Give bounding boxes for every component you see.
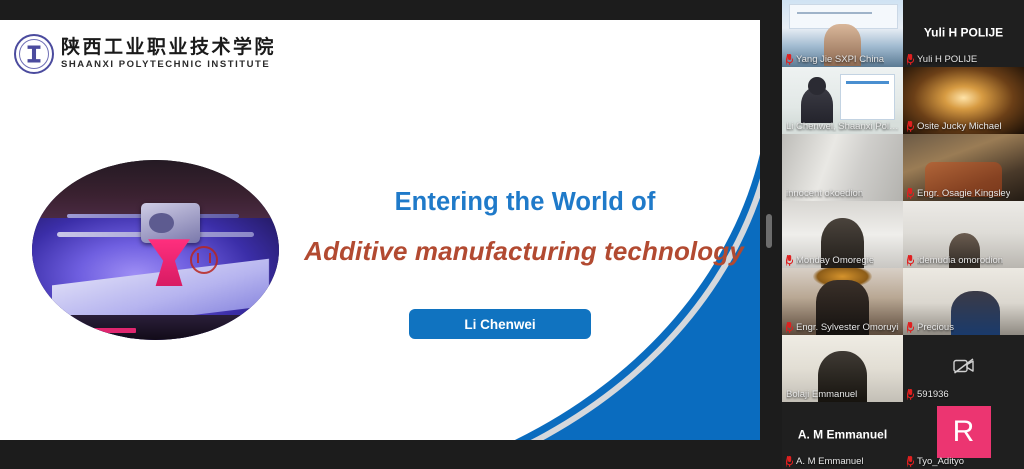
- participant-name: idemudia omorodion: [917, 255, 1003, 266]
- participant-tile[interactable]: innocent okoedion: [782, 134, 903, 201]
- participant-namebar: Precious: [903, 320, 958, 335]
- participant-tile[interactable]: Monday Omoregie: [782, 201, 903, 268]
- participant-tile[interactable]: Osite Jucky Michael: [903, 67, 1024, 134]
- participant-name: Bolaji Emmanuel: [786, 389, 857, 400]
- participant-name: Li Chenwei, Shaanxi Polyt...: [786, 121, 899, 132]
- participant-name: Engr. Sylvester Omoruyi: [796, 322, 898, 333]
- mic-muted-icon: [786, 54, 793, 65]
- participant-name: Osite Jucky Michael: [917, 121, 1001, 132]
- participant-tile[interactable]: Li Chenwei, Shaanxi Polyt...: [782, 67, 903, 134]
- participant-tile[interactable]: idemudia omorodion: [903, 201, 1024, 268]
- camera-off-icon: [953, 357, 975, 374]
- participant-tile[interactable]: 591936: [903, 335, 1024, 402]
- institute-name-cn: 陕西工业职业技术学院: [61, 38, 276, 57]
- participant-namebar: idemudia omorodion: [903, 253, 1007, 268]
- mic-muted-icon: [907, 389, 914, 400]
- participant-namebar: innocent okoedion: [782, 186, 867, 201]
- institute-name: 陕西工业职业技术学院 SHAANXI POLYTECHNIC INSTITUTE: [61, 38, 276, 70]
- printer-head-icon: [141, 203, 200, 243]
- mic-muted-icon: [907, 255, 914, 266]
- slide-title-line2: Additive manufacturing technology: [268, 236, 760, 267]
- mic-muted-icon: [786, 456, 793, 467]
- speaker-name-button[interactable]: Li Chenwei: [409, 309, 591, 339]
- participant-namebar: Li Chenwei, Shaanxi Polyt...: [782, 119, 903, 134]
- participant-display-name: A. M Emmanuel: [782, 427, 903, 441]
- participant-name: A. M Emmanuel: [796, 456, 864, 467]
- participant-name: Monday Omoregie: [796, 255, 874, 266]
- avatar: R: [937, 406, 991, 458]
- printer-photo: [32, 160, 279, 340]
- mic-muted-icon: [907, 188, 914, 199]
- participant-name: innocent okoedion: [786, 188, 863, 199]
- institute-logo: 陕西工业职业技术学院 SHAANXI POLYTECHNIC INSTITUTE: [14, 34, 276, 74]
- mic-muted-icon: [907, 456, 914, 467]
- mic-muted-icon: [786, 255, 793, 266]
- participant-tile[interactable]: Bolaji Emmanuel: [782, 335, 903, 402]
- seal-icon: [14, 34, 54, 74]
- participant-namebar: Engr. Sylvester Omoruyi: [782, 320, 902, 335]
- mic-muted-icon: [907, 322, 914, 333]
- participant-tile[interactable]: Engr. Osagie Kingsley: [903, 134, 1024, 201]
- mic-muted-icon: [786, 322, 793, 333]
- participant-tile[interactable]: Engr. Sylvester Omoruyi: [782, 268, 903, 335]
- participant-strip[interactable]: Yang Jie SXPI ChinaYuli H POLIJEYuli H P…: [782, 0, 1024, 468]
- participant-namebar: Bolaji Emmanuel: [782, 387, 861, 402]
- mic-muted-icon: [907, 54, 914, 65]
- participant-namebar: A. M Emmanuel: [782, 454, 868, 469]
- participant-namebar: 591936: [903, 387, 953, 402]
- stage-scrollbar[interactable]: [766, 214, 772, 248]
- participant-name: Yang Jie SXPI China: [796, 54, 884, 65]
- participant-tile[interactable]: A. M EmmanuelA. M Emmanuel: [782, 402, 903, 469]
- presentation-slide: 陕西工业职业技术学院 SHAANXI POLYTECHNIC INSTITUTE…: [0, 20, 760, 440]
- participant-namebar: Yang Jie SXPI China: [782, 52, 888, 67]
- participant-namebar: Tyo_Adityo: [903, 454, 968, 469]
- participant-display-name: Yuli H POLIJE: [903, 25, 1024, 39]
- participant-name: Yuli H POLIJE: [917, 54, 977, 65]
- participant-tile[interactable]: Yuli H POLIJEYuli H POLIJE: [903, 0, 1024, 67]
- slide-title-line1: Entering the World of: [300, 188, 750, 217]
- participant-namebar: Monday Omoregie: [782, 253, 878, 268]
- participant-name: Tyo_Adityo: [917, 456, 964, 467]
- participant-namebar: Osite Jucky Michael: [903, 119, 1005, 134]
- shared-screen-stage: 陕西工业职业技术学院 SHAANXI POLYTECHNIC INSTITUTE…: [0, 0, 782, 468]
- participant-tile[interactable]: RTyo_Adityo: [903, 402, 1024, 469]
- mic-muted-icon: [907, 121, 914, 132]
- participant-namebar: Engr. Osagie Kingsley: [903, 186, 1014, 201]
- participant-name: 591936: [917, 389, 949, 400]
- meeting-window: 陕西工业职业技术学院 SHAANXI POLYTECHNIC INSTITUTE…: [0, 0, 1024, 468]
- institute-name-en: SHAANXI POLYTECHNIC INSTITUTE: [61, 60, 276, 70]
- participant-tile[interactable]: Yang Jie SXPI China: [782, 0, 903, 67]
- participant-name: Precious: [917, 322, 954, 333]
- participant-namebar: Yuli H POLIJE: [903, 52, 981, 67]
- participant-name: Engr. Osagie Kingsley: [917, 188, 1010, 199]
- participant-tile[interactable]: Precious: [903, 268, 1024, 335]
